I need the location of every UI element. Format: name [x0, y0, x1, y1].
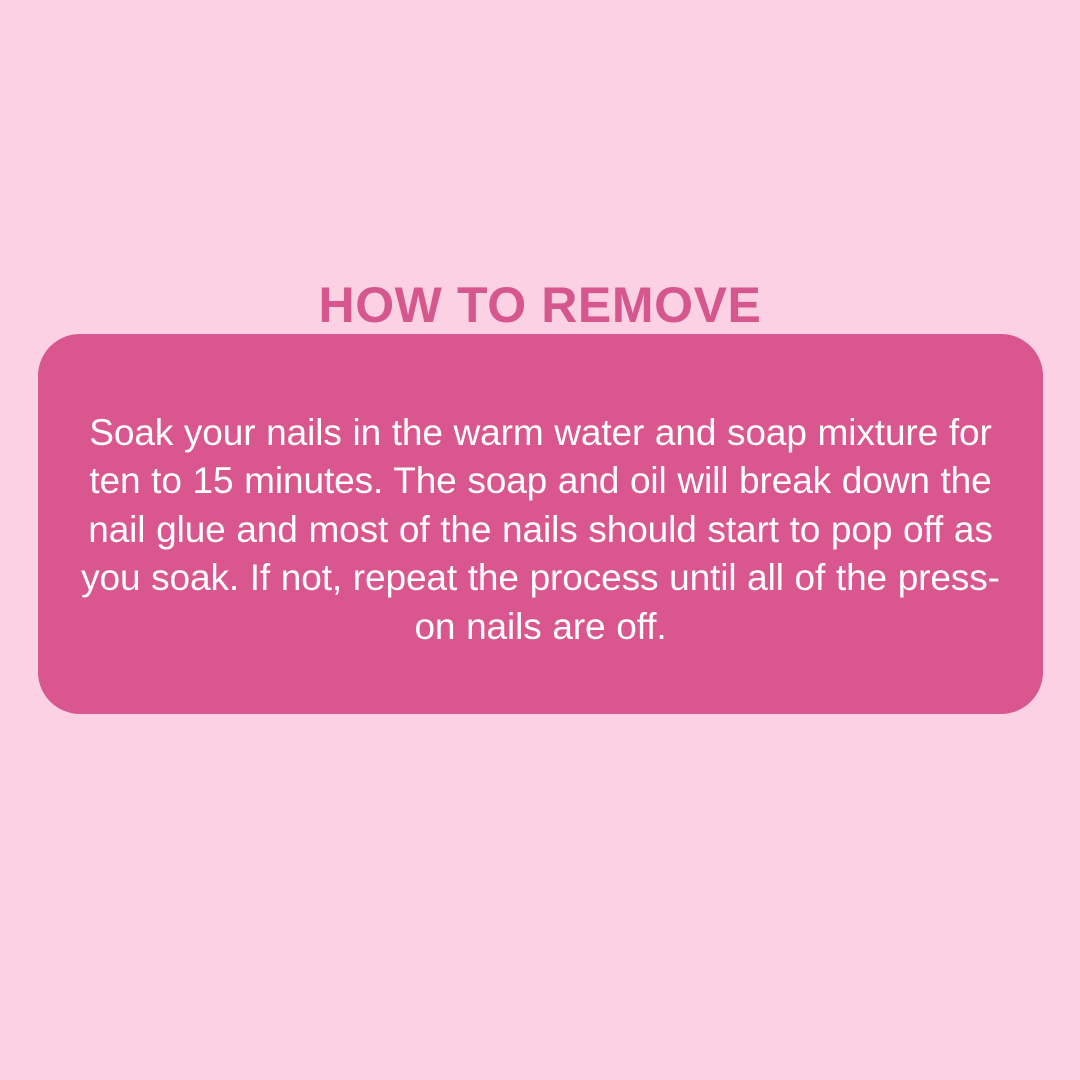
poster-content: HOW TO REMOVE Soak your nails in the war… [0, 0, 1080, 1080]
instruction-card: Soak your nails in the warm water and so… [38, 334, 1043, 714]
instruction-body-text: Soak your nails in the warm water and so… [68, 409, 1013, 652]
page-title: HOW TO REMOVE [318, 277, 761, 342]
instruction-poster: HOW TO REMOVE Soak your nails in the war… [0, 0, 1080, 1080]
